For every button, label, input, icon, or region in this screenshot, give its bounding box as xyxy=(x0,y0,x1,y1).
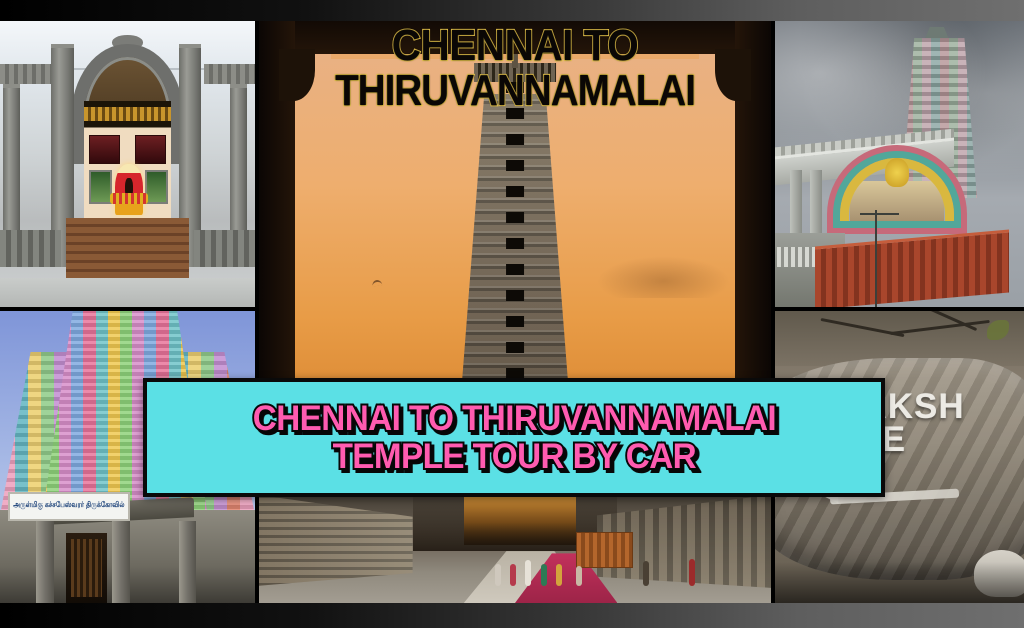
column xyxy=(179,521,197,603)
wooden-kiosk xyxy=(576,532,632,569)
window xyxy=(145,170,168,204)
pilgrim xyxy=(510,564,516,586)
poster-canvas: அருள்மிகு கச்சபேஸ்வரர் திருக்கோவில் xyxy=(0,0,1024,628)
arch-ornament xyxy=(885,158,910,187)
kalash-finial xyxy=(512,52,518,68)
banner-line-1: CHENNAI TO THIRUVANNAMALAI xyxy=(252,400,775,438)
signboard-text: அருள்மிகு கச்சபேஸ்வரர் திருக்கோவில் xyxy=(13,502,124,511)
temple-gateway-image xyxy=(775,21,1024,307)
door-grille xyxy=(71,539,102,597)
low-railing xyxy=(194,230,255,267)
cloud xyxy=(597,256,730,298)
pilgrim xyxy=(495,564,501,586)
column xyxy=(112,521,130,603)
gold-frieze xyxy=(84,107,171,121)
temple-interior-image xyxy=(0,21,255,307)
pilgrim xyxy=(643,561,649,586)
column xyxy=(36,521,54,603)
wall-panel xyxy=(135,135,166,164)
lamp-post xyxy=(875,210,877,307)
pilgrim xyxy=(576,566,582,586)
pilgrim xyxy=(689,559,695,586)
floor xyxy=(0,278,255,307)
corridor-wall-left xyxy=(259,495,413,586)
low-railing xyxy=(0,230,61,267)
flower-garland xyxy=(110,193,148,204)
shadow-gradient xyxy=(775,562,1024,603)
photo-bottom-center xyxy=(259,495,771,603)
tamil-signboard: அருள்மிகு கச்சபேஸ்வரர் திருக்கோவில் xyxy=(8,492,130,521)
wall-panel xyxy=(89,135,120,164)
railing-left xyxy=(0,64,51,84)
temple-corridor-image xyxy=(259,495,771,603)
pilgrim xyxy=(556,564,562,586)
railing-right xyxy=(204,64,255,84)
top-frame-band xyxy=(0,0,1024,21)
window xyxy=(89,170,112,204)
photo-top-right xyxy=(775,21,1024,307)
gateway-silhouette-top xyxy=(259,21,771,54)
banner-line-2: TEMPLE TOUR BY CAR xyxy=(332,438,696,476)
photo-top-left xyxy=(0,21,255,307)
temple-steps xyxy=(66,218,188,281)
pilgrim xyxy=(525,560,531,586)
bottom-frame-band xyxy=(0,603,1024,628)
lamp-post-arm xyxy=(860,213,900,215)
photo-collage: அருள்மிகு கச்சபேஸ்வரர் திருக்கோவில் xyxy=(0,21,1024,603)
pilgrim xyxy=(541,564,547,586)
main-title-banner: CHENNAI TO THIRUVANNAMALAI TEMPLE TOUR B… xyxy=(143,378,885,497)
